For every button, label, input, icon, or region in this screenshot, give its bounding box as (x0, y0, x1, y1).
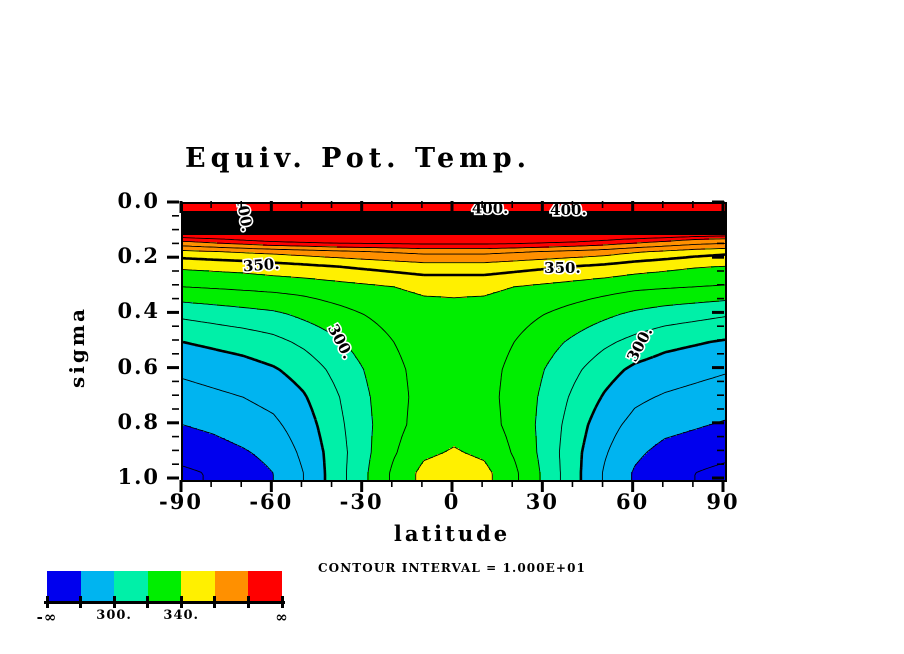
colorbar-band (215, 571, 249, 604)
y-axis-label: sigma (65, 287, 89, 407)
y-axis-label-wrapper: sigma (62, 300, 92, 420)
figure-canvas: Equiv. Pot. Temp. sigma 0.00.20.40.60.81… (0, 0, 904, 654)
colorbar-tick-label: 340. (151, 608, 211, 623)
axis-ticks-overlay (170, 190, 740, 500)
y-tick-label: 0.4 (95, 298, 160, 323)
colorbar-tick (180, 596, 183, 608)
y-tick-label: 0.8 (95, 409, 160, 434)
colorbar-band (114, 571, 148, 604)
page-title: Equiv. Pot. Temp. (181, 143, 727, 174)
x-axis-label: latitude (181, 521, 723, 546)
colorbar-tick (79, 596, 82, 608)
x-tick-label: 90 (678, 489, 768, 514)
x-tick-label: -60 (226, 489, 316, 514)
y-tick-label: 0.0 (95, 188, 160, 213)
colorbar-tick-label: ∞ (252, 608, 312, 626)
colorbar-band (248, 571, 282, 604)
y-tick-label: 0.2 (95, 243, 160, 268)
colorbar-tick (281, 596, 284, 608)
colorbar-band (47, 571, 81, 604)
colorbar-tick (46, 596, 49, 608)
y-tick-label: 0.6 (95, 354, 160, 379)
x-tick-label: 60 (588, 489, 678, 514)
x-tick-label: -90 (136, 489, 226, 514)
colorbar-band (181, 571, 215, 604)
x-tick-label: 30 (497, 489, 587, 514)
x-tick-label: 0 (407, 489, 497, 514)
tick-marks (167, 201, 724, 492)
colorbar-tick (146, 596, 149, 608)
colorbar-band (148, 571, 182, 604)
colorbar-tick (247, 596, 250, 608)
colorbar-tick (213, 596, 216, 608)
colorbar-tick (113, 596, 116, 608)
y-tick-label: 1.0 (95, 464, 160, 489)
colorbar-tick-label: -∞ (17, 608, 77, 626)
contour-interval-note: CONTOUR INTERVAL = 1.000E+01 (318, 561, 586, 575)
colorbar (47, 571, 282, 604)
x-tick-label: -30 (317, 489, 407, 514)
colorbar-band (81, 571, 115, 604)
colorbar-tick-label: 300. (84, 608, 144, 623)
